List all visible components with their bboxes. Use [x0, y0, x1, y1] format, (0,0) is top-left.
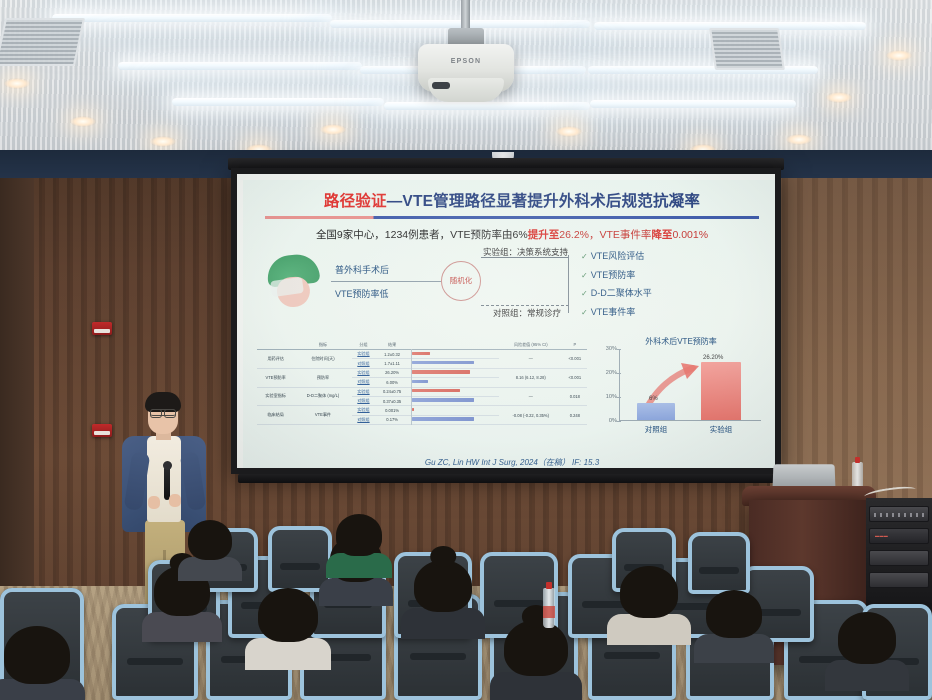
flow-divider-line	[331, 281, 441, 282]
audience-member-shoulders	[607, 614, 691, 645]
arm-label-experimental: 实验组：决策系统支持	[483, 246, 568, 258]
outcome-label: VTE风险评估	[591, 251, 645, 261]
table-cell-bar	[409, 368, 499, 377]
fire-alarm-icon	[92, 424, 112, 437]
table-cell-pvalue: <0.001	[563, 350, 587, 369]
table-row: 临床结局VTE事件实验组0.001%-0.08 (-0.22, 0.35%)0.…	[257, 406, 587, 415]
outcome-label: VTE事件率	[591, 307, 636, 317]
ceiling-vent	[0, 18, 85, 66]
table-cell-value: 26.20%	[375, 368, 409, 377]
table-cell-bar	[409, 359, 499, 368]
table-row: 实验室指标D-D二聚体 (mg/L)实验组0.24±0.75—0.018	[257, 387, 587, 396]
chart-y-tick: 20%	[595, 370, 617, 376]
outcome-list: ✓VTE风险评估 ✓VTE预防率 ✓D-D二聚体水平 ✓VTE事件率	[581, 249, 652, 323]
table-body: 用药评估住院时间(天)实验组1.2±0.32—<0.001对照组1.7±1.11…	[257, 350, 587, 425]
table-cell-metric: 预防率	[294, 368, 351, 387]
ceiling-light-strip	[52, 14, 332, 22]
rack-unit	[869, 506, 929, 522]
subtitle-highlight-2: 降至	[651, 229, 672, 241]
audience-member-shoulders	[178, 557, 241, 581]
table-cell-ci: —	[499, 350, 563, 369]
ceiling-downlight	[4, 78, 30, 89]
forest-plot-bar	[412, 380, 428, 383]
audience-member-shoulders	[319, 578, 394, 606]
rack-brand-label: ▬▬▬	[875, 533, 888, 538]
audience-member-shoulders	[401, 608, 485, 639]
rack-unit	[869, 550, 929, 566]
table-header-cell: 结果	[375, 340, 409, 350]
fire-alarm-icon	[92, 322, 112, 335]
audience-member-head	[706, 590, 762, 638]
audience-member	[4, 626, 70, 684]
table-cell-value: 1.2±0.32	[375, 350, 409, 359]
table-header-row: 指标 分组 结果 风险差值 (95% CI) P	[257, 340, 587, 350]
ceiling-light-strip	[172, 98, 384, 106]
audience-member	[838, 612, 896, 664]
ceiling-downlight	[886, 50, 912, 61]
ceiling-downlight	[70, 116, 96, 127]
table-cell-bar	[409, 415, 499, 424]
subtitle-highlight-1: 提升至	[528, 229, 560, 241]
forest-plot-bar	[412, 417, 474, 420]
arm-label-control: 对照组：常规诊疗	[493, 307, 561, 319]
chart-y-tick: 10%	[595, 394, 617, 400]
table-header-cell	[257, 340, 294, 350]
table-cell-ci: -0.08 (-0.22, 0.35%)	[499, 406, 563, 425]
table-cell-metric: VTE事件	[294, 406, 351, 425]
audience-member-shoulders	[825, 660, 909, 691]
arm-line-control	[481, 305, 569, 306]
audience-member-head	[414, 560, 472, 612]
table-cell-pvalue: <0.001	[563, 368, 587, 387]
flow-label-bottom: VTE预防率低	[335, 287, 389, 300]
study-flow-diagram: 普外科手术后 VTE预防率低 随机化 实验组：决策系统支持 对照组：常规诊疗 ✓…	[243, 247, 775, 321]
table-cell-arm: 对照组	[352, 415, 376, 424]
audience-member	[336, 514, 382, 556]
title-underline-rule	[265, 216, 759, 219]
slide-subtitle: 全国9家中心，1234例患者，VTE预防率由6%提升至26.2%，VTE事件率降…	[243, 227, 775, 242]
audience-member	[706, 590, 762, 638]
outcome-item: ✓D-D二聚体水平	[581, 286, 652, 299]
table-cell-bar	[409, 406, 499, 415]
outcome-label: VTE预防率	[591, 270, 636, 280]
chart-bar-control	[637, 403, 675, 420]
water-bottle-seat	[543, 588, 555, 628]
audience-member	[620, 566, 678, 618]
table-cell-group: 临床结局	[257, 406, 294, 425]
table-cell-pvalue: 0.248	[563, 406, 587, 425]
chart-bar-label-experimental: 26.20%	[703, 355, 723, 361]
presenter-laptop	[773, 464, 836, 488]
ceiling-downlight	[150, 136, 176, 147]
lecture-hall-scene: EPSON 路径验证—VTE管理路径显著提升外科术后规范抗凝率 全国9家中心，1…	[0, 0, 932, 700]
audience-member-head	[188, 520, 232, 560]
screen-surface: 路径验证—VTE管理路径显著提升外科术后规范抗凝率 全国9家中心，1234例患者…	[237, 174, 775, 468]
table-cell-group: 用药评估	[257, 350, 294, 369]
chart-bar-label-control: 6%	[649, 396, 658, 402]
presenter-hand-right	[169, 494, 181, 507]
table-row: VTE预防率预防率实验组26.20%8.16 (6.12, 8.28)<0.00…	[257, 368, 587, 377]
table-cell-bar	[409, 378, 499, 387]
rack-led-row	[874, 513, 926, 517]
table-header-cell	[409, 340, 499, 350]
table-cell-value: 6.00%	[375, 378, 409, 387]
results-table: 指标 分组 结果 风险差值 (95% CI) P 用药评估住院时间(天)实验组1…	[257, 340, 587, 425]
forest-plot-bar	[412, 370, 470, 373]
chart-bar-experimental	[701, 362, 741, 420]
audience-seat[interactable]	[688, 532, 750, 594]
slide-title: 路径验证—VTE管理路径显著提升外科术后规范抗凝率	[243, 189, 775, 211]
table-header-cell: P	[563, 340, 587, 350]
rack-unit-amplifier: ▬▬▬	[869, 528, 929, 544]
projector-lens	[432, 82, 450, 89]
table-cell-bar	[409, 387, 499, 396]
chart-y-tick: 0%	[595, 418, 617, 424]
ceiling-vent	[709, 28, 785, 70]
subtitle-seg-1: 全国9家中心，1234例患者，VTE预防率由6%	[316, 229, 528, 241]
table-cell-metric: D-D二聚体 (mg/L)	[294, 387, 351, 406]
patient-illustration-icon	[265, 255, 321, 307]
table-cell-value: 0.37±0.35	[375, 396, 409, 405]
table-cell-arm: 对照组	[352, 378, 376, 387]
subtitle-seg-2: 26.2%，VTE事件率	[559, 229, 651, 241]
audience-member-head	[4, 626, 70, 684]
prevention-rate-chart: 外科术后VTE预防率 30% 20% 10% 0% 6%	[595, 336, 767, 454]
chart-plot-area: 30% 20% 10% 0% 6% 26.20% 对照组 实	[595, 349, 767, 435]
chart-x-label-experimental: 实验组	[697, 424, 745, 435]
slide-title-dash: —	[387, 193, 403, 210]
audience-member	[258, 588, 318, 642]
table-cell-arm: 实验组	[352, 350, 376, 359]
check-icon: ✓	[581, 289, 588, 298]
ceiling-light-strip	[330, 20, 590, 28]
chart-y-axis	[619, 349, 620, 421]
glasses-icon	[150, 409, 176, 416]
table-row: 用药评估住院时间(天)实验组1.2±0.32—<0.001	[257, 350, 587, 359]
presenter-hand-left	[148, 496, 160, 509]
audience-member	[414, 560, 472, 612]
outcome-label: D-D二聚体水平	[591, 288, 652, 298]
check-icon: ✓	[581, 252, 588, 261]
outcome-item: ✓VTE事件率	[581, 305, 652, 318]
table-header-cell: 指标	[294, 340, 351, 350]
rack-unit	[869, 572, 929, 588]
audience-member-shoulders	[694, 634, 775, 663]
table-cell-group: VTE预防率	[257, 368, 294, 387]
flow-label-top: 普外科手术后	[335, 263, 389, 276]
presentation-slide: 路径验证—VTE管理路径显著提升外科术后规范抗凝率 全国9家中心，1234例患者…	[243, 180, 775, 468]
projection-screen: 路径验证—VTE管理路径显著提升外科术后规范抗凝率 全国9家中心，1234例患者…	[231, 168, 781, 474]
chart-x-axis	[619, 420, 761, 421]
ceiling-downlight	[556, 126, 582, 137]
table-cell-value: 0.24±0.75	[375, 387, 409, 396]
table-cell-ci: 8.16 (6.12, 8.28)	[499, 368, 563, 387]
outcome-bracket	[568, 255, 569, 313]
table-header-cell: 风险差值 (95% CI)	[499, 340, 563, 350]
outcome-item: ✓VTE预防率	[581, 268, 652, 281]
forest-plot-bar	[412, 352, 430, 355]
outcome-item: ✓VTE风险评估	[581, 249, 652, 262]
ceiling-downlight	[826, 92, 852, 103]
projector-brand-label: EPSON	[418, 58, 514, 65]
screen-bottom-weight-bar	[238, 474, 774, 483]
ceiling-light-strip	[384, 102, 590, 110]
table-cell-arm: 对照组	[352, 396, 376, 405]
table-cell-ci: —	[499, 387, 563, 406]
chart-title: 外科术后VTE预防率	[595, 336, 767, 347]
results-table-wrapper: 指标 分组 结果 风险差值 (95% CI) P 用药评估住院时间(天)实验组1…	[257, 340, 587, 425]
table-cell-bar	[409, 350, 499, 359]
table-cell-value: 0.17%	[375, 415, 409, 424]
forest-plot-bar	[412, 361, 474, 364]
slide-title-blue: VTE管理路径显著提升外科术后规范抗凝率	[402, 193, 700, 210]
table-cell-value: 0.001%	[375, 406, 409, 415]
table-cell-pvalue: 0.018	[563, 387, 587, 406]
audience-member-head	[620, 566, 678, 618]
audience-member-shoulders	[326, 553, 392, 578]
slide-title-red: 路径验证	[324, 193, 387, 210]
forest-plot-bar	[412, 389, 460, 392]
ceiling-light-strip	[590, 100, 796, 108]
ceiling-downlight	[786, 134, 812, 145]
table-cell-arm: 实验组	[352, 368, 376, 377]
audience-member-head	[504, 620, 568, 676]
chart-y-tick: 30%	[595, 346, 617, 352]
check-icon: ✓	[581, 308, 588, 317]
table-cell-value: 1.7±1.11	[375, 359, 409, 368]
audience-member-shoulders	[142, 612, 223, 642]
ceiling: EPSON	[0, 0, 932, 152]
table-cell-bar	[409, 396, 499, 405]
chart-x-label-control: 对照组	[633, 424, 679, 435]
audience-member-head	[336, 514, 382, 556]
forest-plot-bar	[412, 408, 414, 411]
table-cell-group: 实验室指标	[257, 387, 294, 406]
table-cell-metric: 住院时间(天)	[294, 350, 351, 369]
audience-member-hair-bun	[430, 546, 456, 567]
table-cell-arm: 对照组	[352, 359, 376, 368]
audience-member	[188, 520, 232, 560]
randomization-node: 随机化	[441, 261, 481, 301]
table-cell-arm: 实验组	[352, 387, 376, 396]
audience-member-head	[838, 612, 896, 664]
forest-plot-bar	[412, 398, 474, 401]
slide-citation: Gu ZC, Lin HW Int J Surg, 2024（在稿） IF: 1…	[243, 457, 775, 468]
audience-member-shoulders	[245, 638, 331, 670]
audience-member-head	[258, 588, 318, 642]
table-cell-arm: 实验组	[352, 406, 376, 415]
audience-member	[504, 620, 568, 676]
ceiling-light-strip	[118, 62, 362, 70]
ceiling-downlight	[320, 124, 346, 135]
table-header-cell: 分组	[352, 340, 376, 350]
check-icon: ✓	[581, 271, 588, 280]
subtitle-seg-3: 0.001%	[672, 229, 708, 241]
